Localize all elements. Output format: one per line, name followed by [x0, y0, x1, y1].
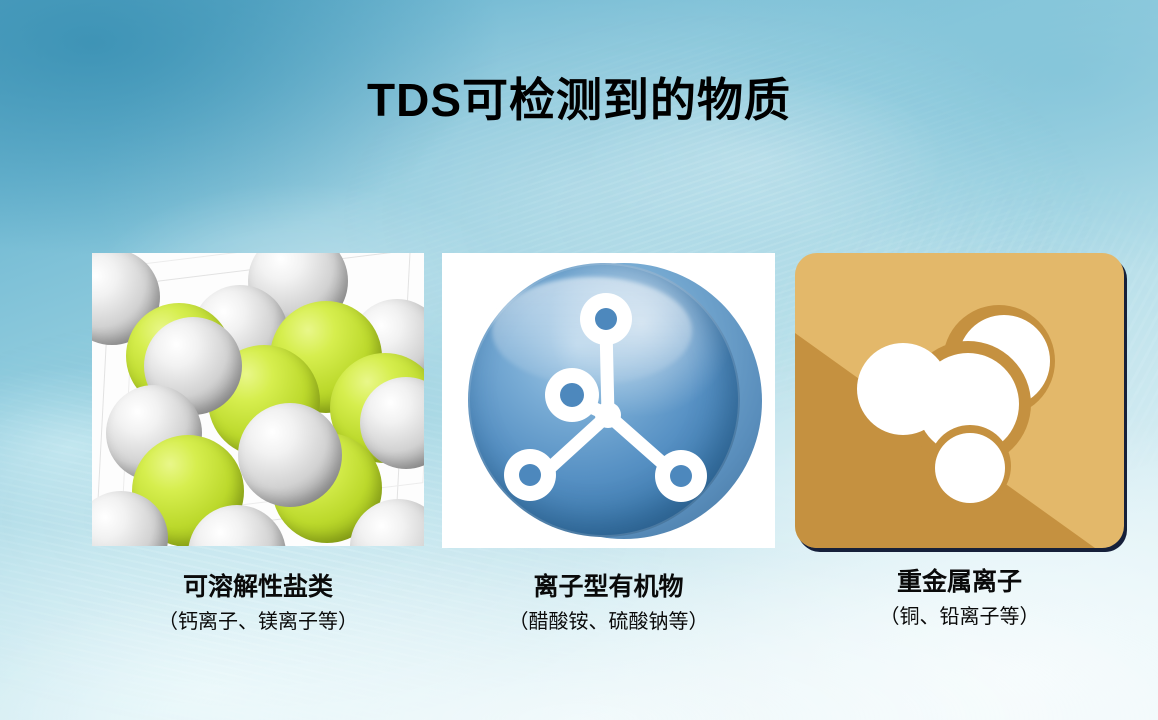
card-ionic-organics	[442, 253, 775, 548]
orb-canvas	[442, 253, 775, 548]
tan-molecule-flat-icon	[795, 253, 1124, 548]
molecule-circle	[935, 433, 1005, 503]
blue-sphere-molecule-icon	[442, 253, 775, 548]
atom-white	[238, 403, 342, 507]
lattice-canvas	[92, 253, 424, 546]
caption-title: 可溶解性盐类	[92, 572, 424, 603]
caption-subtitle: （醋酸铵、硫酸钠等）	[442, 609, 775, 635]
molecule-node-graph-icon	[468, 263, 740, 537]
caption-subtitle: （铜、铅离子等）	[795, 604, 1124, 630]
caption-title: 离子型有机物	[442, 572, 775, 603]
molecule-circle	[857, 343, 949, 435]
caption-soluble-salts: 可溶解性盐类 （钙离子、镁离子等）	[92, 572, 424, 635]
crystal-lattice-image	[92, 253, 424, 546]
card-soluble-salts	[92, 253, 424, 546]
caption-heavy-metal-ions: 重金属离子 （铜、铅离子等）	[795, 567, 1124, 630]
caption-title: 重金属离子	[795, 567, 1124, 598]
caption-subtitle: （钙离子、镁离子等）	[92, 609, 424, 635]
caption-ionic-organics: 离子型有机物 （醋酸铵、硫酸钠等）	[442, 572, 775, 635]
slide-title: TDS可检测到的物质	[0, 74, 1158, 127]
card-heavy-metal-ions	[795, 253, 1124, 548]
slide-canvas: TDS可检测到的物质	[0, 0, 1158, 720]
